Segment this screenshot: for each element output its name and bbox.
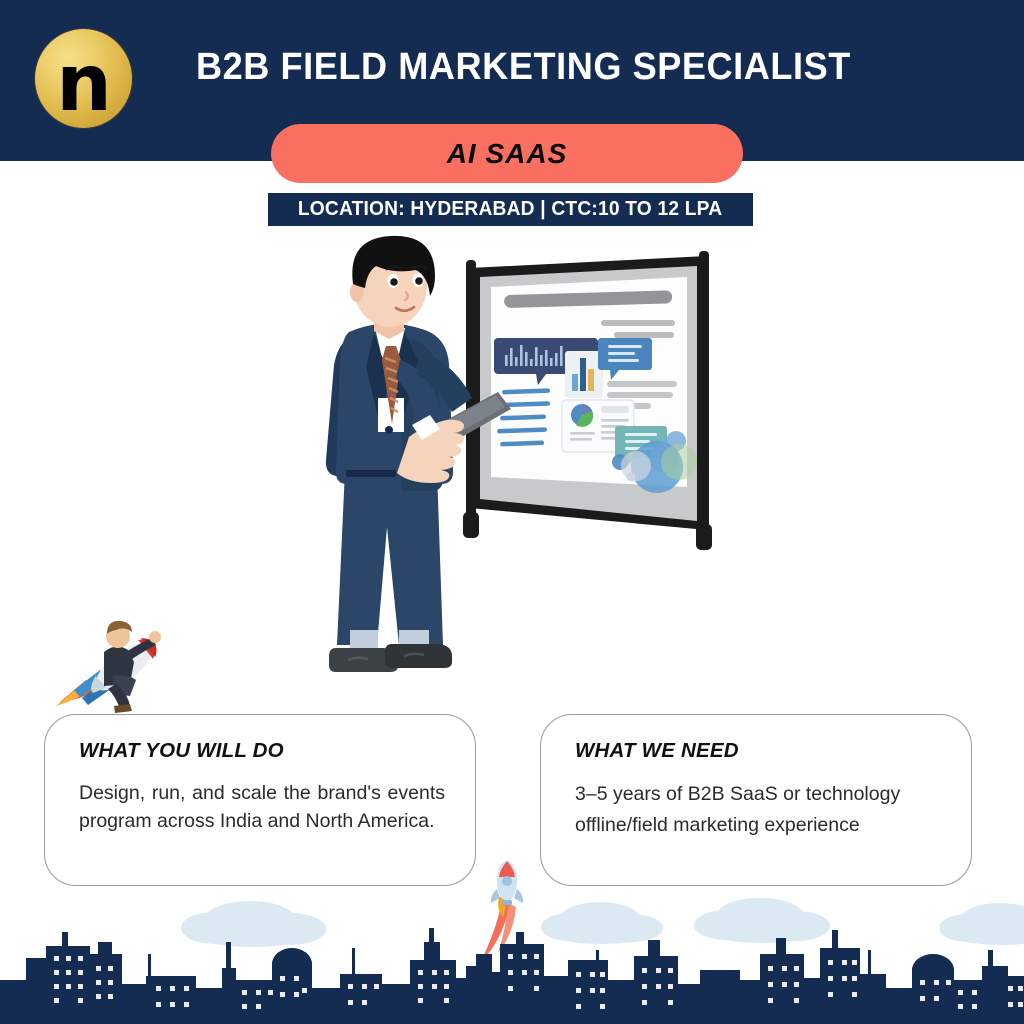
- businessman-on-rocket-icon: [52, 606, 170, 714]
- text-bubble-teal: [615, 426, 667, 469]
- industry-tag-badge: AI SAAS: [271, 124, 743, 183]
- text-bubble-blue: [598, 338, 652, 380]
- pointer-lines: [497, 388, 550, 446]
- card-body: 3–5 years of B2B SaaS or technology offl…: [575, 779, 941, 841]
- cloud-icon: [939, 903, 1024, 945]
- page-title: B2B FIELD MARKETING SPECIALIST: [196, 44, 861, 90]
- bar-chart-card: [565, 351, 603, 398]
- card-heading: WHAT YOU WILL DO: [79, 739, 445, 763]
- location-salary-bar: LOCATION: HYDERABAD | CTC:10 TO 12 LPA: [268, 193, 753, 226]
- card-body: Design, run, and scale the brand's event…: [79, 779, 445, 835]
- card-heading: WHAT WE NEED: [575, 739, 941, 763]
- building-silhouettes: [0, 928, 1024, 1024]
- cloud-icon: [694, 898, 830, 943]
- cloud-icon: [541, 902, 663, 944]
- logo-letter: n: [56, 45, 111, 123]
- bar-chart-bubble: [494, 338, 598, 385]
- job-poster: n B2B FIELD MARKETING SPECIALIST AI SAAS…: [0, 0, 1024, 1024]
- city-skyline-footer: [0, 884, 1024, 1024]
- presentation-board-icon: [463, 251, 712, 550]
- cloud-icon: [181, 901, 326, 947]
- industry-tag-label: AI SAAS: [447, 138, 568, 170]
- pie-chart-card: [562, 400, 634, 452]
- decorative-circles: [612, 431, 697, 493]
- company-logo: n: [35, 29, 132, 128]
- location-salary-text: LOCATION: HYDERABAD | CTC:10 TO 12 LPA: [298, 198, 722, 221]
- card-what-you-will-do: WHAT YOU WILL DO Design, run, and scale …: [44, 714, 476, 886]
- card-what-we-need: WHAT WE NEED 3–5 years of B2B SaaS or te…: [540, 714, 972, 886]
- presenter-figure-icon: [326, 236, 511, 672]
